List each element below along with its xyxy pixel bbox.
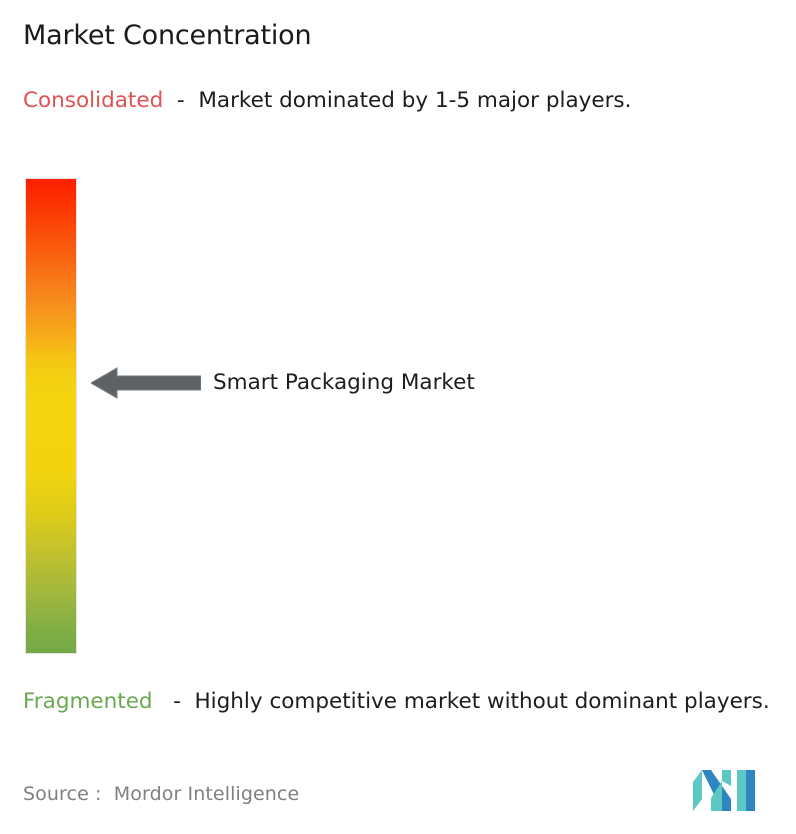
market-concentration-gradient-bar <box>26 179 76 653</box>
fragmented-separator: - <box>153 689 195 714</box>
consolidated-caption: Consolidated - Market dominated by 1-5 m… <box>23 85 768 117</box>
page-title: Market Concentration <box>23 20 311 51</box>
mordor-intelligence-logo-icon <box>693 770 765 811</box>
market-pointer: Smart Packaging Market <box>91 365 691 401</box>
fragmented-keyword: Fragmented <box>23 689 153 714</box>
consolidated-separator: - <box>163 88 198 113</box>
fragmented-description: Highly competitive market without domina… <box>195 689 770 714</box>
left-arrow-icon <box>91 366 201 400</box>
consolidated-description: Market dominated by 1-5 major players. <box>198 88 631 113</box>
pointer-label: Smart Packaging Market <box>213 372 475 394</box>
consolidated-keyword: Consolidated <box>23 88 163 113</box>
source-attribution: Source : Mordor Intelligence <box>23 783 299 805</box>
fragmented-caption: Fragmented - Highly competitive market w… <box>23 686 783 718</box>
mordor-intelligence-logo <box>693 770 765 811</box>
